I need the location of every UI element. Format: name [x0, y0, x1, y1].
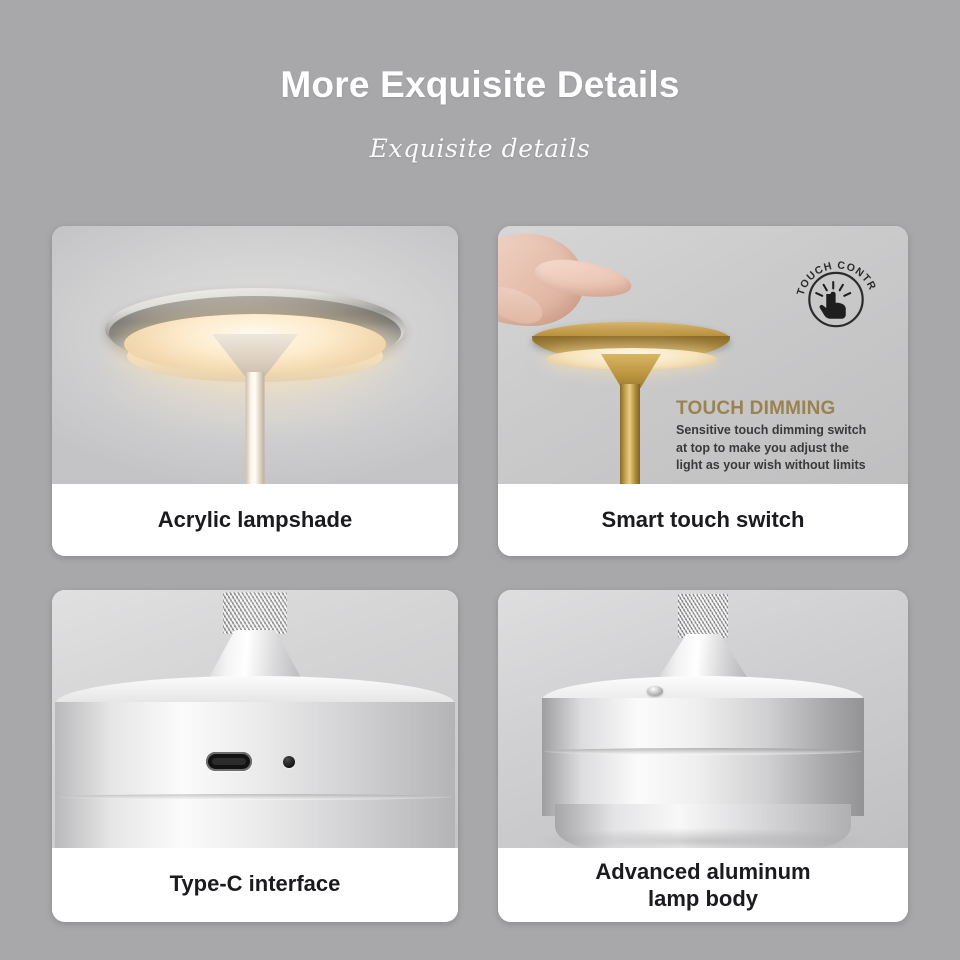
caption-line-2: lamp body: [648, 886, 758, 911]
product-photo-smart-touch-switch: TOUCH CONTROL TOUCH DIMMING Sensitive to…: [498, 226, 908, 484]
touch-dimming-body-line-1: Sensitive touch dimming switch: [676, 422, 900, 439]
card-caption-type-c-interface: Type-C interface: [52, 848, 458, 920]
knurled-stem-collar: [678, 594, 728, 638]
caption-text: Advanced aluminum lamp body: [595, 858, 810, 913]
hand-illustration: [498, 234, 648, 334]
base-cylinder-body: [55, 702, 455, 848]
feature-card-acrylic-lampshade[interactable]: Acrylic lampshade: [52, 226, 458, 556]
product-photo-type-c-interface: [52, 590, 458, 848]
gold-lamp-cone-joint: [601, 354, 661, 388]
page-header: More Exquisite Details Exquisite details: [0, 0, 960, 163]
caption-text: Smart touch switch: [602, 506, 805, 534]
caption-text: Acrylic lampshade: [158, 506, 352, 534]
product-photo-acrylic-lampshade: [52, 226, 458, 484]
page-title: More Exquisite Details: [0, 64, 960, 106]
knurled-stem-collar: [223, 592, 287, 634]
page-subtitle: Exquisite details: [0, 134, 960, 163]
card-caption-smart-touch-switch: Smart touch switch: [498, 484, 908, 556]
base-drop-shadow: [538, 828, 868, 848]
feature-card-grid: Acrylic lampshade: [52, 226, 908, 922]
usb-type-c-port: [206, 752, 252, 771]
indicator-led-icon: [283, 756, 295, 768]
card-caption-acrylic-lampshade: Acrylic lampshade: [52, 484, 458, 556]
card-caption-advanced-aluminum-lamp-body: Advanced aluminum lamp body: [498, 848, 908, 922]
base-screw-icon: [647, 686, 663, 696]
base-seam-line: [544, 748, 862, 755]
touch-dimming-body-line-3: light as your wish without limits: [676, 457, 900, 474]
touch-dimming-title: TOUCH DIMMING: [676, 399, 900, 420]
pointing-hand-icon: [816, 282, 850, 319]
touch-control-badge: TOUCH CONTROL: [790, 248, 882, 340]
lamp-stem: [246, 372, 265, 484]
caption-line-1: Advanced aluminum: [595, 859, 810, 884]
feature-card-advanced-aluminum-lamp-body[interactable]: Advanced aluminum lamp body: [498, 590, 908, 922]
base-seam-line: [58, 794, 452, 800]
touch-dimming-overlay: TOUCH DIMMING Sensitive touch dimming sw…: [676, 399, 900, 474]
product-photo-aluminum-lamp-body: [498, 590, 908, 848]
caption-text: Type-C interface: [170, 870, 341, 898]
touch-dimming-body-line-2: at top to make you adjust the: [676, 440, 900, 457]
gold-lamp-stem: [620, 384, 640, 484]
base-cylinder-body: [542, 698, 864, 816]
touch-dimming-body: Sensitive touch dimming switch at top to…: [676, 422, 900, 474]
feature-card-type-c-interface[interactable]: Type-C interface: [52, 590, 458, 922]
feature-card-smart-touch-switch[interactable]: TOUCH CONTROL TOUCH DIMMING Sensitive to…: [498, 226, 908, 556]
